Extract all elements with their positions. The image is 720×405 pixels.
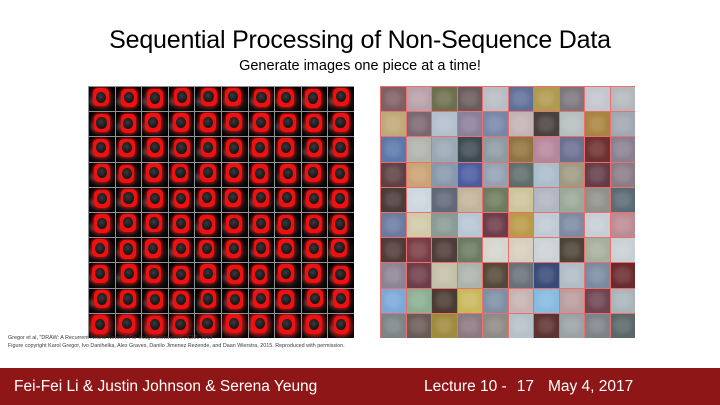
mnist-sample-cell: [169, 213, 195, 237]
mnist-sample-cell: [275, 137, 301, 161]
mnist-sample-cell: [169, 163, 195, 187]
mnist-sample-cell: [328, 87, 354, 111]
svhn-sample-cell: [483, 314, 508, 338]
mnist-sample-cell: [328, 163, 354, 187]
mnist-sample-cell: [275, 112, 301, 136]
figure-draw-svhn: [380, 86, 635, 338]
svhn-sample-cell: [585, 213, 610, 237]
mnist-sample-cell: [142, 289, 168, 313]
mnist-sample-cell: [249, 163, 275, 187]
slide-footer-bar: Fei-Fei Li & Justin Johnson & Serena Yeu…: [0, 368, 720, 405]
svhn-sample-cell: [611, 87, 636, 111]
svhn-sample-cell: [458, 238, 483, 262]
svhn-sample-cell: [611, 188, 636, 212]
dark-blob: [281, 218, 291, 229]
dark-blob: [175, 319, 185, 330]
mnist-sample-cell: [195, 137, 221, 161]
svhn-sample-cell: [407, 137, 432, 161]
svhn-sample-cell: [509, 263, 534, 287]
dark-blob: [202, 318, 212, 329]
dark-blob: [256, 293, 266, 304]
svhn-sample-cell: [381, 188, 406, 212]
svhn-sample-cell: [407, 87, 432, 111]
dark-blob: [176, 142, 186, 153]
mnist-sample-cell: [275, 188, 301, 212]
dark-blob: [334, 242, 344, 253]
dark-blob: [229, 117, 239, 128]
dark-blob: [229, 243, 239, 254]
mnist-sample-cell: [328, 213, 354, 237]
svhn-sample-cell: [585, 238, 610, 262]
mnist-sample-cell: [142, 112, 168, 136]
dark-blob: [282, 192, 292, 203]
mnist-sample-cell: [302, 188, 328, 212]
svhn-sample-cell: [611, 163, 636, 187]
footer-authors: Fei-Fei Li & Justin Johnson & Serena Yeu…: [14, 378, 317, 396]
mnist-sample-cell: [328, 238, 354, 262]
mnist-sample-cell: [249, 213, 275, 237]
mnist-sample-cell: [302, 87, 328, 111]
mnist-sample-cell: [275, 87, 301, 111]
svhn-sample-cell: [381, 137, 406, 161]
mnist-sample-cell: [142, 263, 168, 287]
mnist-sample-cell: [195, 263, 221, 287]
mnist-sample-cell: [195, 188, 221, 212]
dark-blob: [150, 319, 160, 330]
svhn-sample-cell: [611, 112, 636, 136]
mnist-sample-cell: [169, 263, 195, 287]
svhn-sample-cell: [458, 263, 483, 287]
svhn-sample-cell: [509, 314, 534, 338]
dark-blob: [203, 117, 213, 128]
mnist-sample-cell: [116, 163, 142, 187]
mnist-sample-cell: [89, 289, 115, 313]
dark-blob: [203, 293, 213, 304]
dark-blob: [255, 318, 265, 329]
dark-blob: [256, 117, 266, 128]
svhn-sample-cell: [611, 263, 636, 287]
svhn-sample-cell: [560, 263, 585, 287]
svhn-sample-cell: [407, 289, 432, 313]
svhn-sample-cell: [458, 188, 483, 212]
mnist-sample-cell: [222, 238, 248, 262]
svhn-sample-cell: [585, 314, 610, 338]
mnist-sample-cell: [249, 289, 275, 313]
dark-blob: [150, 193, 160, 204]
svhn-sample-cell: [585, 289, 610, 313]
dark-blob: [176, 243, 186, 254]
mnist-sample-cell: [169, 137, 195, 161]
svhn-sample-cell: [432, 188, 457, 212]
dark-blob: [97, 218, 107, 229]
mnist-sample-cell: [275, 163, 301, 187]
footer-page-number: 17: [517, 378, 534, 396]
dark-blob: [149, 217, 159, 228]
svhn-sample-cell: [483, 163, 508, 187]
dark-blob: [123, 293, 133, 304]
figure-draw-mnist: [88, 86, 354, 338]
svhn-sample-cell: [560, 289, 585, 313]
dark-blob: [256, 92, 266, 103]
dark-blob: [123, 118, 133, 129]
dark-blob: [335, 218, 345, 229]
mnist-sample-cell: [302, 238, 328, 262]
dark-blob: [123, 243, 133, 254]
svhn-sample-cell: [407, 112, 432, 136]
svhn-sample-cell: [432, 112, 457, 136]
svhn-sample-cell: [407, 238, 432, 262]
svhn-sample-cell: [560, 137, 585, 161]
mnist-sample-cell: [142, 213, 168, 237]
dark-blob: [229, 167, 239, 178]
svhn-sample-cell: [458, 112, 483, 136]
dark-blob: [336, 293, 346, 304]
svhn-sample-cell: [432, 213, 457, 237]
svhn-sample-cell: [458, 87, 483, 111]
dark-blob: [97, 167, 107, 178]
dark-blob: [175, 167, 185, 178]
svhn-sample-cell: [458, 213, 483, 237]
dark-blob: [335, 269, 345, 280]
mnist-sample-cell: [249, 263, 275, 287]
mnist-sample-cell: [195, 87, 221, 111]
mnist-sample-cell: [116, 213, 142, 237]
dark-blob: [203, 91, 213, 102]
svhn-sample-cell: [381, 87, 406, 111]
svhn-sample-cell: [432, 87, 457, 111]
svhn-sample-cell: [611, 289, 636, 313]
dark-blob: [282, 319, 292, 330]
dark-blob: [124, 268, 134, 279]
svhn-sample-cell: [381, 263, 406, 287]
mnist-sample-cell: [169, 188, 195, 212]
mnist-sample-grid: [88, 86, 354, 338]
mnist-sample-cell: [89, 163, 115, 187]
mnist-sample-cell: [249, 188, 275, 212]
svhn-sample-cell: [509, 188, 534, 212]
dark-blob: [229, 142, 239, 153]
svhn-sample-cell: [585, 188, 610, 212]
svhn-sample-cell: [381, 213, 406, 237]
mnist-sample-cell: [328, 112, 354, 136]
mnist-sample-cell: [222, 87, 248, 111]
mnist-sample-cell: [275, 238, 301, 262]
svhn-sample-cell: [381, 163, 406, 187]
mnist-sample-cell: [142, 87, 168, 111]
svhn-sample-cell: [432, 263, 457, 287]
page-subtitle: Generate images one piece at a time!: [0, 58, 720, 74]
dark-blob: [123, 192, 133, 203]
svhn-sample-cell: [560, 112, 585, 136]
svhn-sample-cell: [381, 238, 406, 262]
mnist-sample-cell: [116, 112, 142, 136]
mnist-sample-cell: [249, 112, 275, 136]
mnist-sample-cell: [275, 263, 301, 287]
dark-blob: [283, 168, 293, 179]
svhn-sample-cell: [509, 213, 534, 237]
svhn-sample-cell: [611, 238, 636, 262]
dark-blob: [281, 243, 291, 254]
mnist-sample-cell: [302, 137, 328, 161]
mnist-sample-cell: [89, 87, 115, 111]
svhn-sample-cell: [509, 163, 534, 187]
mnist-sample-cell: [302, 213, 328, 237]
dark-blob: [122, 168, 132, 179]
mnist-sample-cell: [169, 112, 195, 136]
svhn-sample-cell: [432, 163, 457, 187]
mnist-sample-cell: [89, 112, 115, 136]
mnist-sample-cell: [302, 263, 328, 287]
mnist-sample-cell: [195, 163, 221, 187]
dark-blob: [310, 293, 320, 304]
svhn-sample-cell: [407, 213, 432, 237]
svhn-sample-cell: [483, 263, 508, 287]
mnist-sample-cell: [89, 263, 115, 287]
mnist-sample-cell: [302, 112, 328, 136]
mnist-sample-cell: [222, 188, 248, 212]
svhn-sample-cell: [381, 112, 406, 136]
citation-line-1: Gregor et al, "DRAW: A Recurrent Neural …: [8, 334, 478, 342]
dark-blob: [335, 142, 345, 153]
svhn-sample-cell: [560, 163, 585, 187]
svhn-sample-cell: [560, 238, 585, 262]
mnist-sample-cell: [142, 238, 168, 262]
svhn-sample-cell: [458, 137, 483, 161]
mnist-sample-cell: [116, 87, 142, 111]
svhn-sample-cell: [611, 213, 636, 237]
dark-blob: [335, 193, 345, 204]
svhn-sample-cell: [407, 188, 432, 212]
footer-lecture-info: Lecture 10 - 17 May 4, 2017: [424, 378, 633, 396]
svhn-sample-cell: [611, 314, 636, 338]
svhn-sample-cell: [534, 87, 559, 111]
svhn-sample-cell: [483, 188, 508, 212]
dark-blob: [255, 269, 265, 280]
mnist-sample-cell: [89, 238, 115, 262]
mnist-sample-cell: [169, 289, 195, 313]
mnist-sample-cell: [169, 238, 195, 262]
svhn-sample-cell: [432, 289, 457, 313]
mnist-sample-cell: [222, 163, 248, 187]
mnist-sample-cell: [222, 112, 248, 136]
svhn-sample-cell: [534, 238, 559, 262]
dark-blob: [230, 269, 240, 280]
svhn-sample-cell: [407, 263, 432, 287]
dark-blob: [95, 319, 105, 330]
svhn-sample-cell: [458, 163, 483, 187]
mnist-sample-cell: [328, 289, 354, 313]
svhn-sample-cell: [534, 314, 559, 338]
mnist-sample-cell: [275, 289, 301, 313]
mnist-sample-cell: [169, 87, 195, 111]
svhn-sample-cell: [585, 263, 610, 287]
svhn-sample-cell: [483, 137, 508, 161]
dark-blob: [256, 242, 266, 253]
mnist-sample-cell: [116, 188, 142, 212]
dark-blob: [176, 218, 186, 229]
mnist-sample-cell: [116, 137, 142, 161]
mnist-sample-cell: [302, 163, 328, 187]
svhn-sample-cell: [483, 112, 508, 136]
mnist-sample-cell: [142, 188, 168, 212]
mnist-sample-cell: [195, 213, 221, 237]
mnist-sample-cell: [195, 289, 221, 313]
dark-blob: [335, 117, 345, 128]
svhn-sample-cell: [611, 137, 636, 161]
dark-blob: [150, 142, 160, 153]
mnist-sample-cell: [222, 213, 248, 237]
svhn-sample-cell: [407, 163, 432, 187]
citation-line-2: Figure copyright Karol Gregor, Ivo Danih…: [8, 342, 478, 350]
dark-blob: [308, 92, 318, 103]
svhn-sample-cell: [458, 289, 483, 313]
svhn-sample-cell: [585, 87, 610, 111]
svhn-sample-cell: [483, 213, 508, 237]
svhn-sample-cell: [585, 137, 610, 161]
footer-lecture-label: Lecture 10 -: [424, 378, 507, 396]
svhn-sample-cell: [483, 238, 508, 262]
mnist-sample-cell: [222, 263, 248, 287]
dark-blob: [97, 293, 107, 304]
svhn-sample-cell: [432, 137, 457, 161]
svhn-sample-cell: [509, 87, 534, 111]
svhn-sample-cell: [509, 238, 534, 262]
svhn-sample-cell: [381, 289, 406, 313]
svhn-sample-cell: [534, 163, 559, 187]
dark-blob: [255, 142, 265, 153]
svhn-sample-cell: [483, 289, 508, 313]
mnist-sample-cell: [195, 238, 221, 262]
mnist-sample-cell: [249, 137, 275, 161]
svhn-sample-cell: [509, 289, 534, 313]
dark-blob: [203, 268, 213, 279]
dark-blob: [255, 168, 265, 179]
svhn-sample-cell: [534, 289, 559, 313]
mnist-sample-cell: [328, 188, 354, 212]
dark-blob: [95, 243, 105, 254]
svhn-sample-cell: [585, 112, 610, 136]
mnist-sample-cell: [142, 163, 168, 187]
dark-blob: [177, 91, 187, 102]
mnist-sample-cell: [222, 289, 248, 313]
mnist-sample-cell: [275, 213, 301, 237]
svhn-sample-cell: [560, 213, 585, 237]
svhn-sample-cell: [534, 112, 559, 136]
mnist-sample-cell: [222, 137, 248, 161]
dark-blob: [176, 269, 186, 280]
mnist-sample-cell: [302, 289, 328, 313]
svhn-sample-cell: [483, 87, 508, 111]
mnist-sample-cell: [89, 137, 115, 161]
figure-citation: Gregor et al, "DRAW: A Recurrent Neural …: [8, 334, 478, 350]
dark-blob: [149, 268, 159, 279]
mnist-sample-cell: [195, 112, 221, 136]
mnist-sample-cell: [142, 137, 168, 161]
dark-blob: [96, 117, 106, 128]
footer-date: May 4, 2017: [548, 378, 633, 396]
svhn-sample-cell: [560, 87, 585, 111]
dark-blob: [124, 92, 134, 103]
mnist-sample-cell: [249, 87, 275, 111]
mnist-sample-cell: [116, 289, 142, 313]
svhn-sample-cell: [585, 163, 610, 187]
mnist-sample-cell: [89, 188, 115, 212]
svhn-sample-cell: [534, 213, 559, 237]
svhn-sample-cell: [560, 188, 585, 212]
svhn-sample-cell: [560, 314, 585, 338]
mnist-sample-cell: [116, 238, 142, 262]
mnist-sample-cell: [116, 263, 142, 287]
dark-blob: [150, 92, 160, 103]
mnist-sample-cell: [328, 137, 354, 161]
svhn-sample-cell: [432, 238, 457, 262]
dark-blob: [96, 92, 106, 103]
svhn-sample-cell: [509, 112, 534, 136]
svhn-sample-cell: [534, 137, 559, 161]
svhn-sample-cell: [509, 137, 534, 161]
page-title: Sequential Processing of Non-Sequence Da…: [0, 26, 720, 55]
dark-blob: [309, 319, 319, 330]
mnist-sample-cell: [249, 238, 275, 262]
svhn-sample-grid: [380, 86, 635, 338]
dark-blob: [202, 243, 212, 254]
mnist-sample-cell: [328, 263, 354, 287]
mnist-sample-cell: [89, 213, 115, 237]
svhn-sample-cell: [534, 263, 559, 287]
svhn-sample-cell: [534, 188, 559, 212]
